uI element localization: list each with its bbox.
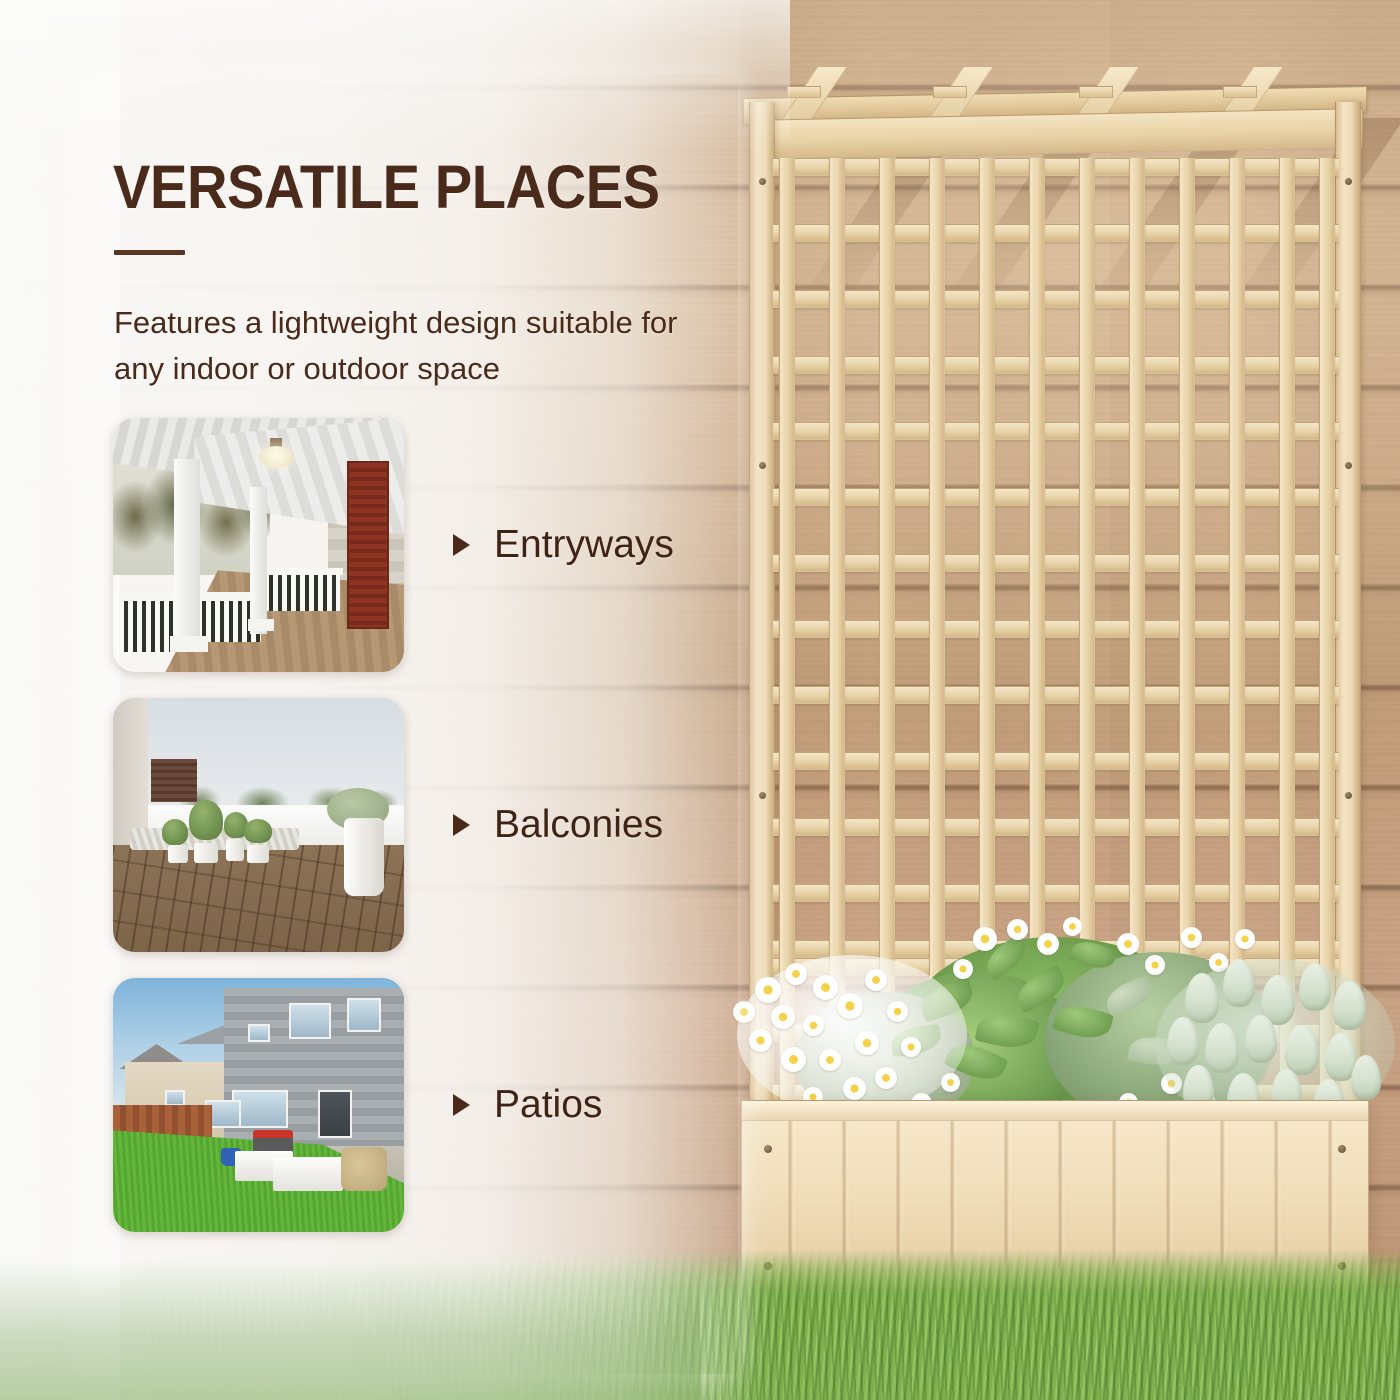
place-label-text: Entryways [494, 523, 674, 567]
backyard-patio-photo [113, 978, 404, 1232]
lattice-trellis-panel [773, 158, 1339, 958]
place-label-text: Patios [494, 1083, 602, 1127]
place-row-patios: Patios [113, 978, 733, 1232]
place-row-entryways: Entryways [113, 418, 733, 672]
trellis-planter-product-photo [735, 62, 1375, 1312]
subtitle-text: Features a lightweight design suitable f… [114, 300, 724, 392]
porch-entryway-photo [113, 418, 404, 672]
page-title: VERSATILE PLACES [113, 152, 660, 222]
place-row-balconies: Balconies [113, 698, 733, 952]
rooftop-balcony-photo [113, 698, 404, 952]
place-label-patios: Patios [453, 1083, 602, 1127]
place-label-entryways: Entryways [453, 523, 674, 567]
text-content: VERSATILE PLACES Features a lightweight … [0, 0, 760, 1400]
title-divider [114, 250, 185, 255]
product-infographic: VERSATILE PLACES Features a lightweight … [0, 0, 1400, 1400]
triangle-right-icon [453, 534, 470, 556]
place-label-text: Balconies [494, 803, 663, 847]
triangle-right-icon [453, 1094, 470, 1116]
triangle-right-icon [453, 814, 470, 836]
place-label-balconies: Balconies [453, 803, 663, 847]
